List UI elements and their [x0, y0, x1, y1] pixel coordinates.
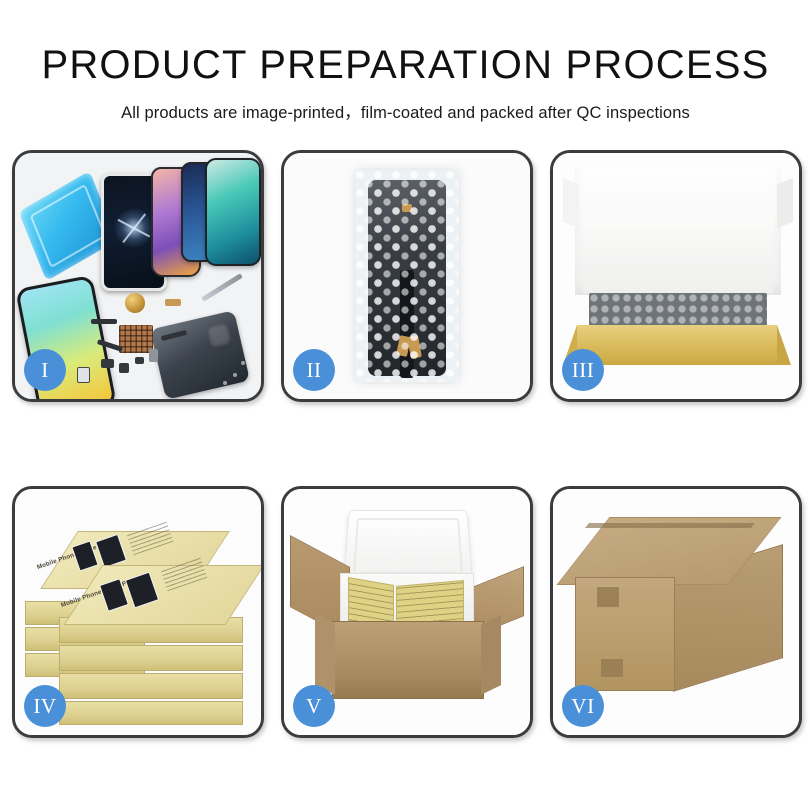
small-component-part — [135, 357, 144, 364]
carton-front-face — [575, 577, 675, 691]
tweezer-tool-graphic — [201, 273, 243, 302]
screw-part — [233, 373, 237, 377]
badge-step-6: VI — [562, 685, 604, 727]
page-subtitle: All products are image-printed，film-coat… — [0, 99, 811, 123]
panel-step-1: I — [12, 150, 264, 402]
stacked-box — [59, 701, 243, 725]
panel-step-2: II — [281, 150, 533, 402]
stacked-box — [59, 673, 243, 699]
carton-tape-patch — [597, 587, 619, 607]
vibration-motor-part — [125, 293, 145, 313]
button-part — [149, 349, 158, 362]
panel-step-6: VI — [550, 486, 802, 738]
flex-cable-part — [91, 319, 117, 324]
bubble-wrap-bag-graphic — [355, 170, 459, 382]
kraft-tray-box-graphic — [577, 325, 777, 365]
stacked-box — [59, 645, 243, 671]
screw-part — [223, 381, 227, 385]
white-foam-liner-graphic — [583, 215, 773, 293]
page-header: PRODUCT PREPARATION PROCESS All products… — [0, 0, 811, 123]
badge-step-5: V — [293, 685, 335, 727]
bubble-wrap-fill-graphic — [589, 293, 767, 329]
small-component-part — [119, 363, 129, 373]
bubble-texture-overlay — [355, 170, 459, 382]
page-title: PRODUCT PREPARATION PROCESS — [0, 44, 811, 86]
phone-back-housing-graphic — [150, 310, 250, 399]
panel-step-4: Mobile Phone Spare Parts Mobile Phone Sp… — [12, 486, 264, 738]
badge-step-1: I — [24, 349, 66, 391]
badge-step-3: III — [562, 349, 604, 391]
carton-top-seam — [585, 523, 755, 528]
phone-teal-graphic — [205, 158, 261, 266]
badge-step-4: IV — [24, 685, 66, 727]
chip-array-part — [119, 325, 153, 353]
panel-step-3: III — [550, 150, 802, 402]
sim-tray-part — [77, 367, 90, 383]
small-component-part — [101, 359, 114, 368]
carton-tape-patch — [601, 659, 623, 677]
panel-step-5: V — [281, 486, 533, 738]
process-steps-grid: I II III — [12, 150, 799, 738]
carton-body-graphic — [332, 621, 484, 699]
screw-part — [241, 361, 245, 365]
cracked-screen-graphic — [114, 208, 154, 248]
gold-connector-part — [165, 299, 181, 306]
badge-step-2: II — [293, 349, 335, 391]
